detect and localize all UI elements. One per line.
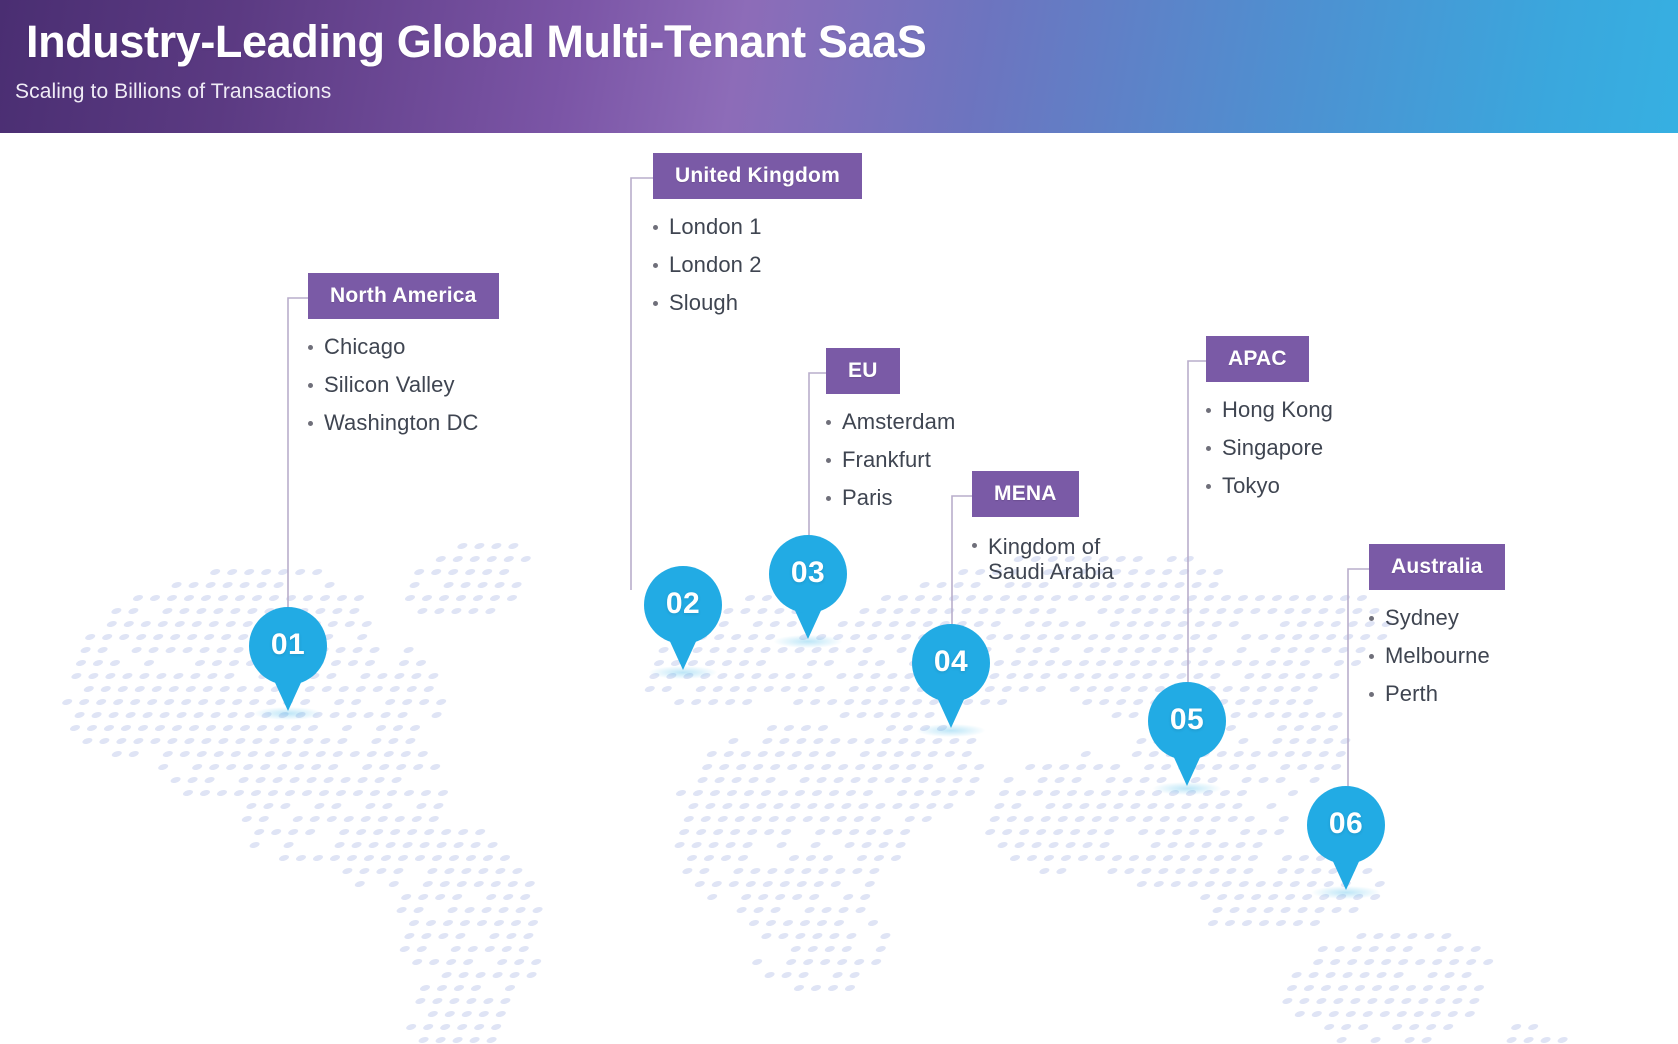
city-list-australia: Sydney Melbourne Perth bbox=[1369, 607, 1505, 705]
page-title: Industry-Leading Global Multi-Tenant Saa… bbox=[26, 16, 926, 68]
map-pin-03[interactable]: 03 bbox=[769, 535, 847, 639]
region-chip-eu[interactable]: EU bbox=[826, 348, 900, 394]
callout-apac[interactable]: APAC Hong Kong Singapore Tokyo bbox=[1206, 336, 1333, 497]
list-item: London 1 bbox=[669, 216, 862, 238]
header-banner: Industry-Leading Global Multi-Tenant Saa… bbox=[0, 0, 1678, 133]
list-item: Singapore bbox=[1222, 437, 1333, 459]
map-pin-02[interactable]: 02 bbox=[644, 566, 722, 670]
pin-number-label: 03 bbox=[769, 556, 847, 590]
city-list-eu: Amsterdam Frankfurt Paris bbox=[826, 411, 955, 509]
list-item: Sydney bbox=[1385, 607, 1505, 629]
list-item: Slough bbox=[669, 292, 862, 314]
list-item: Paris bbox=[842, 487, 955, 509]
city-list-united-kingdom: London 1 London 2 Slough bbox=[653, 216, 862, 314]
list-item: London 2 bbox=[669, 254, 862, 276]
pin-number-label: 04 bbox=[912, 645, 990, 679]
list-item: Perth bbox=[1385, 683, 1505, 705]
region-chip-australia[interactable]: Australia bbox=[1369, 544, 1505, 590]
pin-number-label: 06 bbox=[1307, 807, 1385, 841]
list-item: Melbourne bbox=[1385, 645, 1505, 667]
list-item: Amsterdam bbox=[842, 411, 955, 433]
callout-eu[interactable]: EU Amsterdam Frankfurt Paris bbox=[826, 348, 955, 509]
list-item: Tokyo bbox=[1222, 475, 1333, 497]
map-pin-01[interactable]: 01 bbox=[249, 607, 327, 711]
list-item: Frankfurt bbox=[842, 449, 955, 471]
map-pin-04[interactable]: 04 bbox=[912, 624, 990, 728]
city-list-mena: Kingdom of Saudi Arabia bbox=[972, 534, 1114, 585]
list-item: Washington DC bbox=[324, 412, 499, 434]
list-item: Silicon Valley bbox=[324, 374, 499, 396]
pin-number-label: 01 bbox=[249, 628, 327, 662]
list-item: Chicago bbox=[324, 336, 499, 358]
region-chip-north-america[interactable]: North America bbox=[308, 273, 499, 319]
slide-root: Industry-Leading Global Multi-Tenant Saa… bbox=[0, 0, 1678, 1044]
map-pin-06[interactable]: 06 bbox=[1307, 786, 1385, 890]
city-list-apac: Hong Kong Singapore Tokyo bbox=[1206, 399, 1333, 497]
callout-mena[interactable]: MENA Kingdom of Saudi Arabia bbox=[972, 471, 1114, 585]
list-item: Hong Kong bbox=[1222, 399, 1333, 421]
list-item: Kingdom of Saudi Arabia bbox=[988, 534, 1114, 585]
region-chip-united-kingdom[interactable]: United Kingdom bbox=[653, 153, 862, 199]
region-chip-mena[interactable]: MENA bbox=[972, 471, 1079, 517]
pin-number-label: 02 bbox=[644, 587, 722, 621]
callout-united-kingdom[interactable]: United Kingdom London 1 London 2 Slough bbox=[653, 153, 862, 314]
pin-number-label: 05 bbox=[1148, 703, 1226, 737]
map-pin-05[interactable]: 05 bbox=[1148, 682, 1226, 786]
region-chip-apac[interactable]: APAC bbox=[1206, 336, 1309, 382]
callout-north-america[interactable]: North America Chicago Silicon Valley Was… bbox=[308, 273, 499, 434]
callout-australia[interactable]: Australia Sydney Melbourne Perth bbox=[1369, 544, 1505, 705]
city-list-north-america: Chicago Silicon Valley Washington DC bbox=[308, 336, 499, 434]
page-subtitle: Scaling to Billions of Transactions bbox=[15, 80, 331, 104]
